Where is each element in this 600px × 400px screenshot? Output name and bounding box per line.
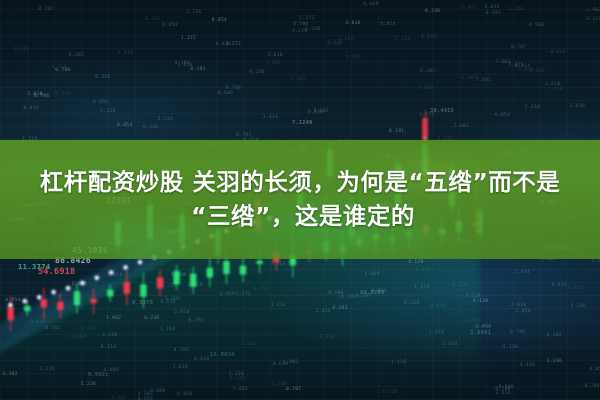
stock-chart-banner-image: 0.3823.4140.7077.6014.1200.5003.3021.618…: [0, 0, 600, 400]
title-line-2: “三绺”，这是谁定的: [185, 201, 415, 232]
title-line-1: 杠杆配资炒股 关羽的长须，为何是“五绺”而不是: [40, 167, 561, 198]
title-block: 杠杆配资炒股 关羽的长须，为何是“五绺”而不是 “三绺”，这是谁定的: [0, 140, 600, 259]
